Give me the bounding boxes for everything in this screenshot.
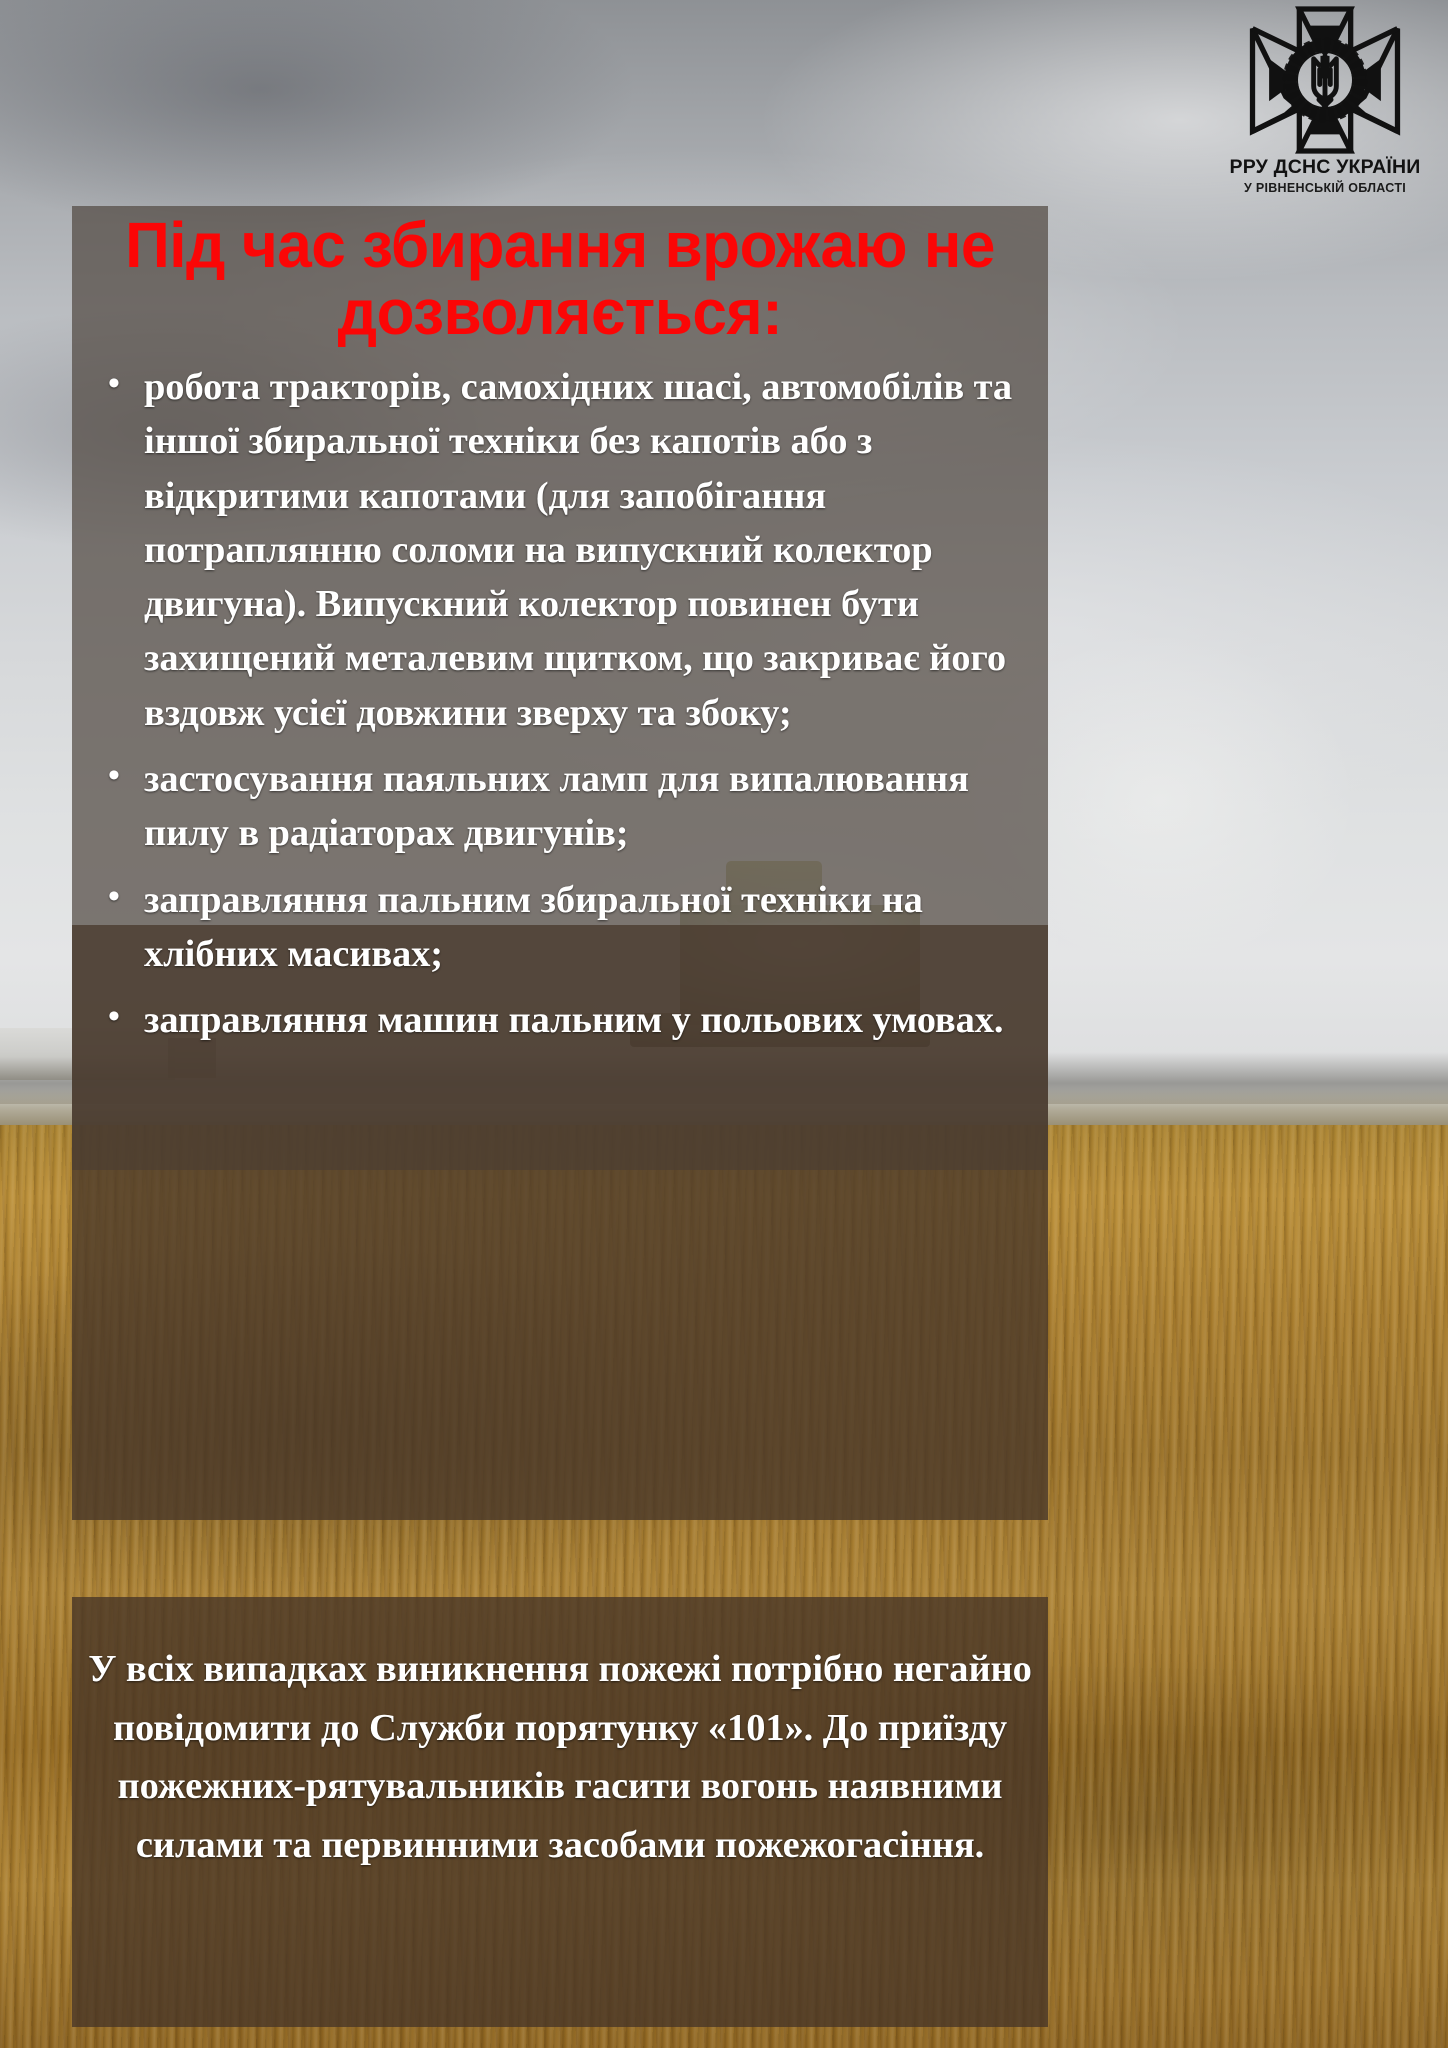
- list-item: робота тракторів, самохідних шасі, автом…: [96, 360, 1036, 740]
- list-item: заправляння машин пальним у польових умо…: [96, 993, 1036, 1047]
- logo-line-2: У РІВНЕНСЬКІЙ ОБЛАСТІ: [1244, 181, 1406, 195]
- emergency-instructions: У всіх випадках виникнення пожежі потріб…: [86, 1640, 1034, 1874]
- dsns-cross-emblem-icon: [1249, 6, 1401, 154]
- poster-canvas: РРУ ДСНС УКРАЇНИ У РІВНЕНСЬКІЙ ОБЛАСТІ П…: [0, 0, 1448, 2048]
- logo-line-1: РРУ ДСНС УКРАЇНИ: [1230, 156, 1421, 179]
- prohibitions-list: робота тракторів, самохідних шасі, автом…: [96, 360, 1036, 1059]
- page-title: Під час збирання врожаю не дозволяється:: [87, 212, 1034, 346]
- list-item: заправляння пальним збиральної техніки н…: [96, 873, 1036, 982]
- list-item: застосування паяльних ламп для випалюван…: [96, 752, 1036, 861]
- dsns-logo: РРУ ДСНС УКРАЇНИ У РІВНЕНСЬКІЙ ОБЛАСТІ: [1230, 6, 1420, 198]
- content-panel-lower: [72, 1170, 1048, 1520]
